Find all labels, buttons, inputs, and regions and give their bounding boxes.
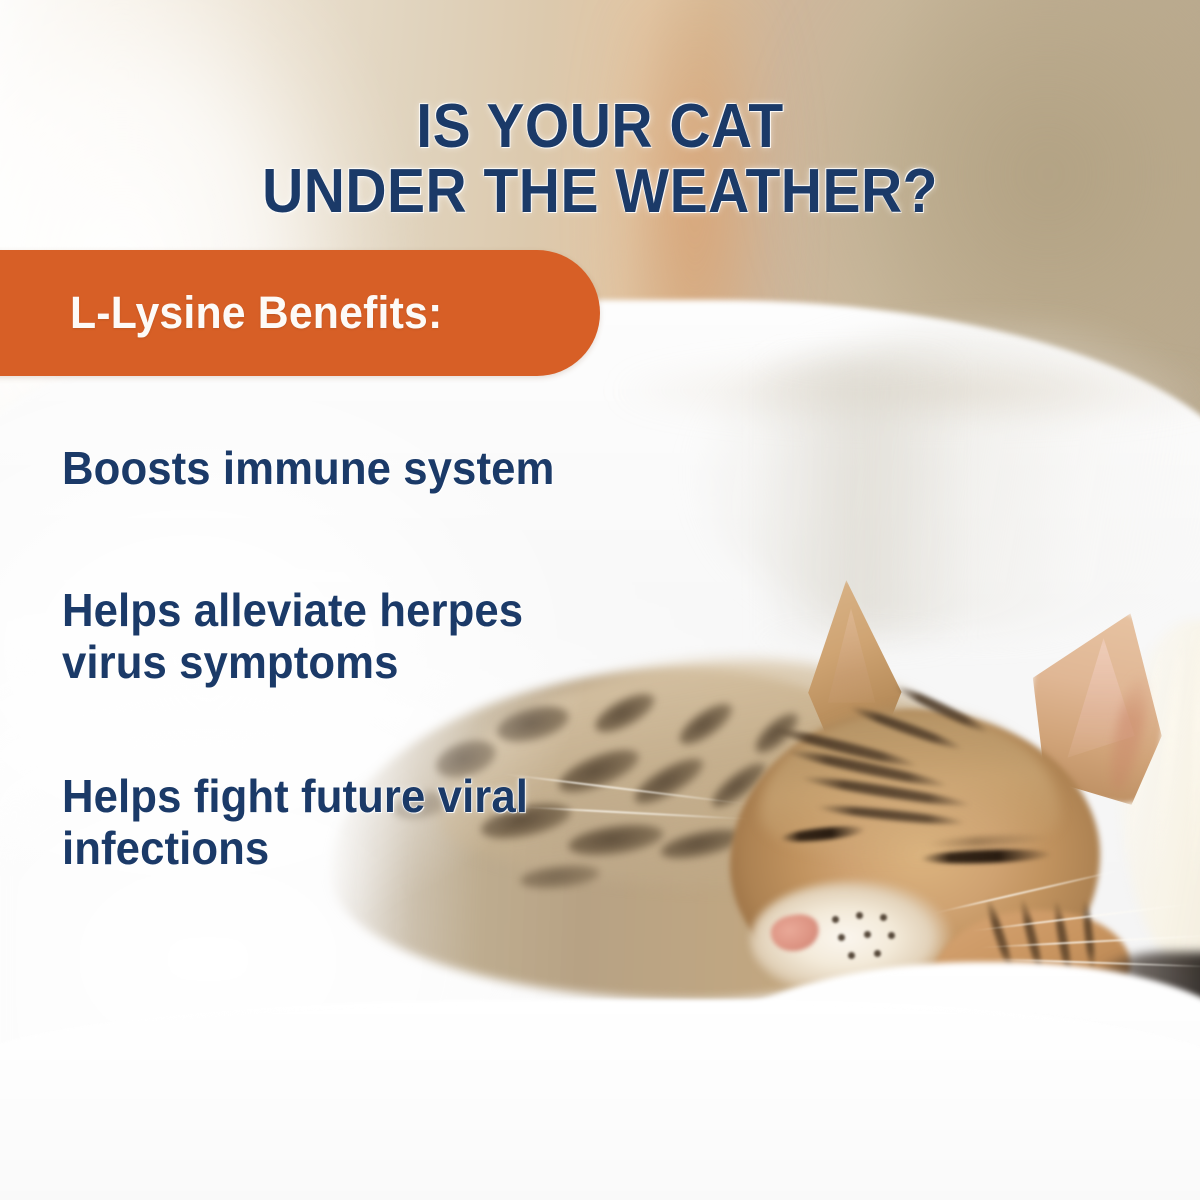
whisker-dot [864,931,871,938]
page-title: IS YOUR CAT UNDER THE WEATHER? [48,94,1152,224]
bedding-foreground [0,1000,1200,1200]
benefit-item: Boosts immune system [62,442,708,494]
benefits-list: Boosts immune system Helps alleviate her… [62,442,742,874]
whisker-dot [880,914,887,921]
benefit-item: Helps alleviate herpes virus symptoms [62,584,708,688]
whisker-dot [832,916,839,923]
benefits-banner-label: L-Lysine Benefits: [70,287,442,339]
whisker-dot [874,950,881,957]
whisker-dot [848,952,855,959]
whisker-dot [838,934,845,941]
promo-poster: IS YOUR CAT UNDER THE WEATHER? L-Lysine … [0,0,1200,1200]
whisker-dot [856,912,863,919]
whisker-dot [888,932,895,939]
benefits-banner: L-Lysine Benefits: [0,250,600,376]
benefit-item: Helps fight future viral infections [62,770,708,874]
